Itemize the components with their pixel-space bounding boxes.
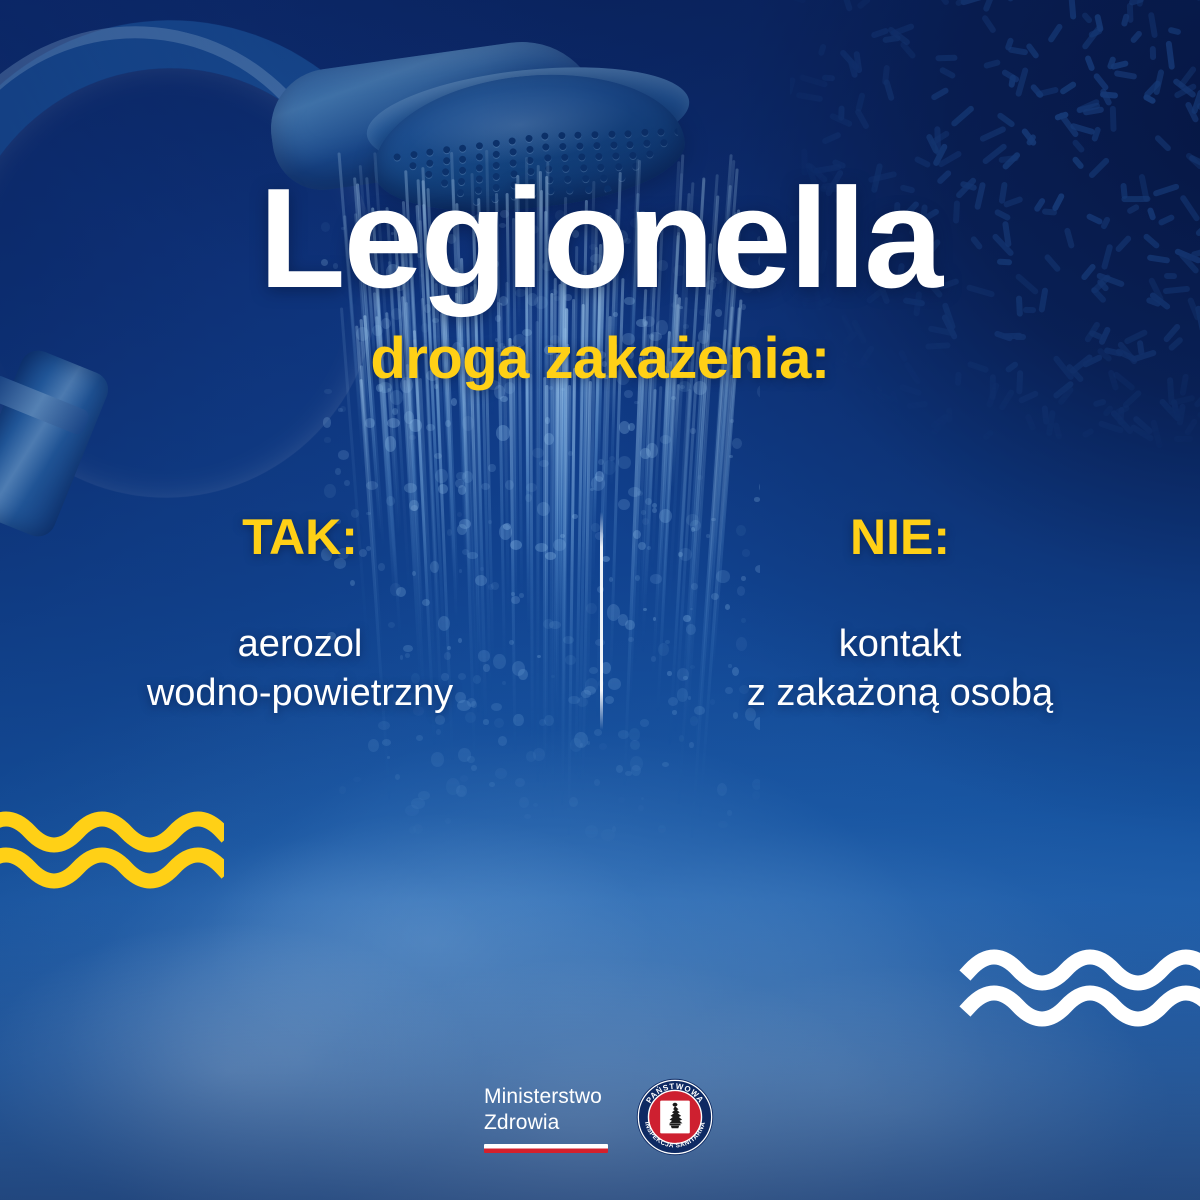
column-nie: NIE: kontaktz zakażoną osobą (660, 512, 1140, 717)
column-nie-body: kontaktz zakażoną osobą (660, 620, 1140, 717)
yellow-water-waves-icon (0, 806, 224, 890)
page-subtitle: droga zakażenia: (0, 330, 1200, 388)
polish-flag-bar-icon (484, 1144, 608, 1153)
ministry-of-health-logo: Ministerstwo Zdrowia (484, 1084, 608, 1153)
poster: Legionella droga zakażenia: TAK: aerozol… (0, 0, 1200, 1200)
ministry-line-1: Ministerstwo (484, 1084, 608, 1110)
poster-content: Legionella droga zakażenia: TAK: aerozol… (0, 0, 1200, 1200)
column-nie-heading: NIE: (660, 512, 1140, 562)
footer: Ministerstwo Zdrowia (0, 1076, 1200, 1172)
column-tak-body: aerozolwodno-powietrzny (60, 620, 540, 717)
page-title: Legionella (0, 168, 1200, 310)
vertical-divider (600, 512, 603, 730)
column-tak: TAK: aerozolwodno-powietrzny (60, 512, 540, 717)
sanitary-inspection-seal-icon: PAŃSTWOWA INSPEKCJA SANITARNA (636, 1078, 714, 1156)
ministry-line-2: Zdrowia (484, 1110, 608, 1136)
white-water-waves-icon (956, 944, 1200, 1028)
column-tak-heading: TAK: (60, 512, 540, 562)
